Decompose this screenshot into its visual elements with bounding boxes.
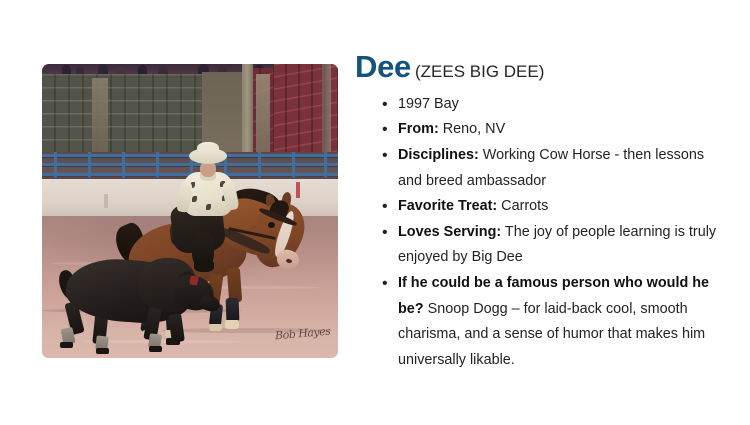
list-item: Disciplines: Working Cow Horse - then le… bbox=[355, 143, 720, 194]
horse-registered-name: (ZEES BIG DEE) bbox=[415, 62, 544, 81]
cow-ear-tag bbox=[189, 275, 198, 285]
horse-profile-card: Bob Hayes Dee(ZEES BIG DEE) 1997 Bay Fro… bbox=[0, 0, 750, 425]
support-pillar-secondary bbox=[322, 64, 331, 160]
list-item: 1997 Bay bbox=[355, 92, 720, 118]
fact-label: Favorite Treat: bbox=[398, 198, 497, 214]
list-item: If he could be a famous person who would… bbox=[355, 271, 720, 374]
fact-value: Snoop Dogg – for laid-back cool, smooth … bbox=[398, 301, 705, 368]
fact-value: 1997 Bay bbox=[398, 96, 459, 112]
fact-label: From: bbox=[398, 121, 439, 137]
stairway-right bbox=[256, 74, 270, 160]
horse-photo: Bob Hayes bbox=[42, 64, 338, 358]
cow-front-hoof-near bbox=[166, 338, 180, 345]
fact-value: Carrots bbox=[501, 198, 548, 214]
rider-boot bbox=[194, 260, 214, 272]
list-item: Loves Serving: The joy of people learnin… bbox=[355, 220, 720, 271]
wall-mark bbox=[104, 194, 108, 208]
cow-hind-hoof-near bbox=[96, 348, 109, 354]
page-title: Dee(ZEES BIG DEE) bbox=[355, 50, 720, 84]
horse-call-name: Dee bbox=[355, 49, 411, 84]
fact-label: Loves Serving: bbox=[398, 224, 501, 240]
support-pillar bbox=[242, 64, 253, 164]
list-item: Favorite Treat: Carrots bbox=[355, 194, 720, 220]
cowboy-hat bbox=[189, 148, 227, 164]
horse-info-panel: Dee(ZEES BIG DEE) 1997 Bay From: Reno, N… bbox=[355, 50, 720, 374]
wall-flag bbox=[296, 182, 300, 198]
horse-front-wrap-near bbox=[226, 298, 240, 322]
grandstand-seats-left bbox=[42, 74, 214, 156]
list-item: From: Reno, NV bbox=[355, 117, 720, 143]
fact-label: Disciplines: bbox=[398, 147, 479, 163]
cow-front-hoof-far bbox=[149, 346, 162, 352]
horse-front-hoof-far bbox=[209, 324, 222, 331]
horse-photo-image: Bob Hayes bbox=[42, 64, 338, 358]
horse-eye bbox=[268, 222, 275, 228]
stairway-left bbox=[92, 78, 108, 158]
horse-facts-list: 1997 Bay From: Reno, NV Disciplines: Wor… bbox=[355, 92, 720, 374]
fact-value: Reno, NV bbox=[443, 121, 505, 137]
horse-front-hoof-near bbox=[225, 320, 239, 329]
cow-hind-hoof-far bbox=[60, 342, 73, 348]
